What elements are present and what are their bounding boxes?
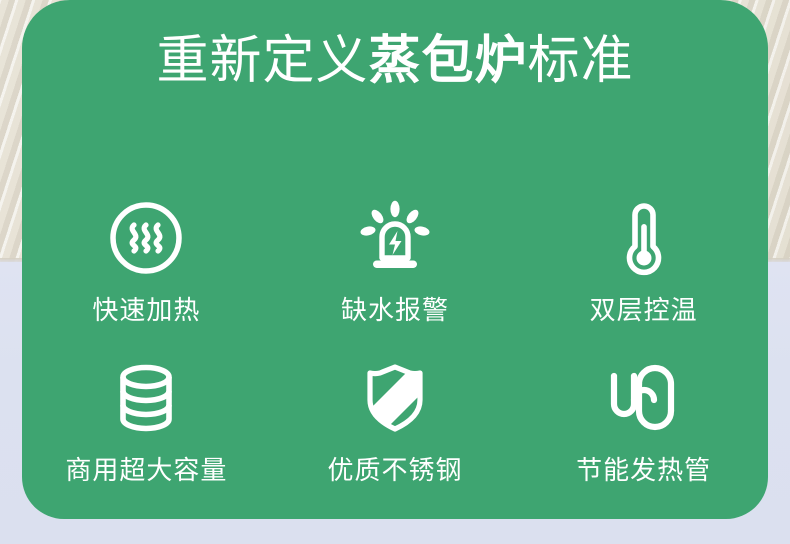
feature-item-fast-heating: 快速加热 <box>22 196 271 344</box>
shield-stainless-steel-icon <box>355 356 435 440</box>
product-feature-banner: 重新定义蒸包炉标准 快速加热 <box>0 0 790 544</box>
feature-item-stainless-steel: 优质不锈钢 <box>271 356 520 504</box>
capacity-cylinder-icon <box>106 356 186 440</box>
feature-label: 商用超大容量 <box>65 454 227 486</box>
page-title: 重新定义蒸包炉标准 <box>22 28 768 94</box>
water-shortage-alarm-icon <box>355 196 435 280</box>
page-title-prefix: 重新定义 <box>156 32 368 90</box>
feature-label: 缺水报警 <box>341 294 449 326</box>
heat-waves-circle-icon <box>106 196 186 280</box>
feature-item-heating-tube: 节能发热管 <box>519 356 768 504</box>
page-title-emphasis: 蒸包炉 <box>368 32 527 90</box>
feature-label: 快速加热 <box>92 294 200 326</box>
green-feature-card: 重新定义蒸包炉标准 快速加热 <box>22 0 768 519</box>
feature-item-temp-control: 双层控温 <box>519 196 768 344</box>
serpentine-heating-tube-icon <box>604 356 684 440</box>
feature-item-water-alarm: 缺水报警 <box>271 196 520 344</box>
feature-item-large-capacity: 商用超大容量 <box>22 356 271 504</box>
feature-label: 优质不锈钢 <box>327 454 462 486</box>
feature-grid: 快速加热 <box>22 196 768 504</box>
feature-label: 节能发热管 <box>576 454 711 486</box>
thermometer-icon <box>604 196 684 280</box>
feature-label: 双层控温 <box>590 294 698 326</box>
page-title-suffix: 标准 <box>528 32 634 90</box>
